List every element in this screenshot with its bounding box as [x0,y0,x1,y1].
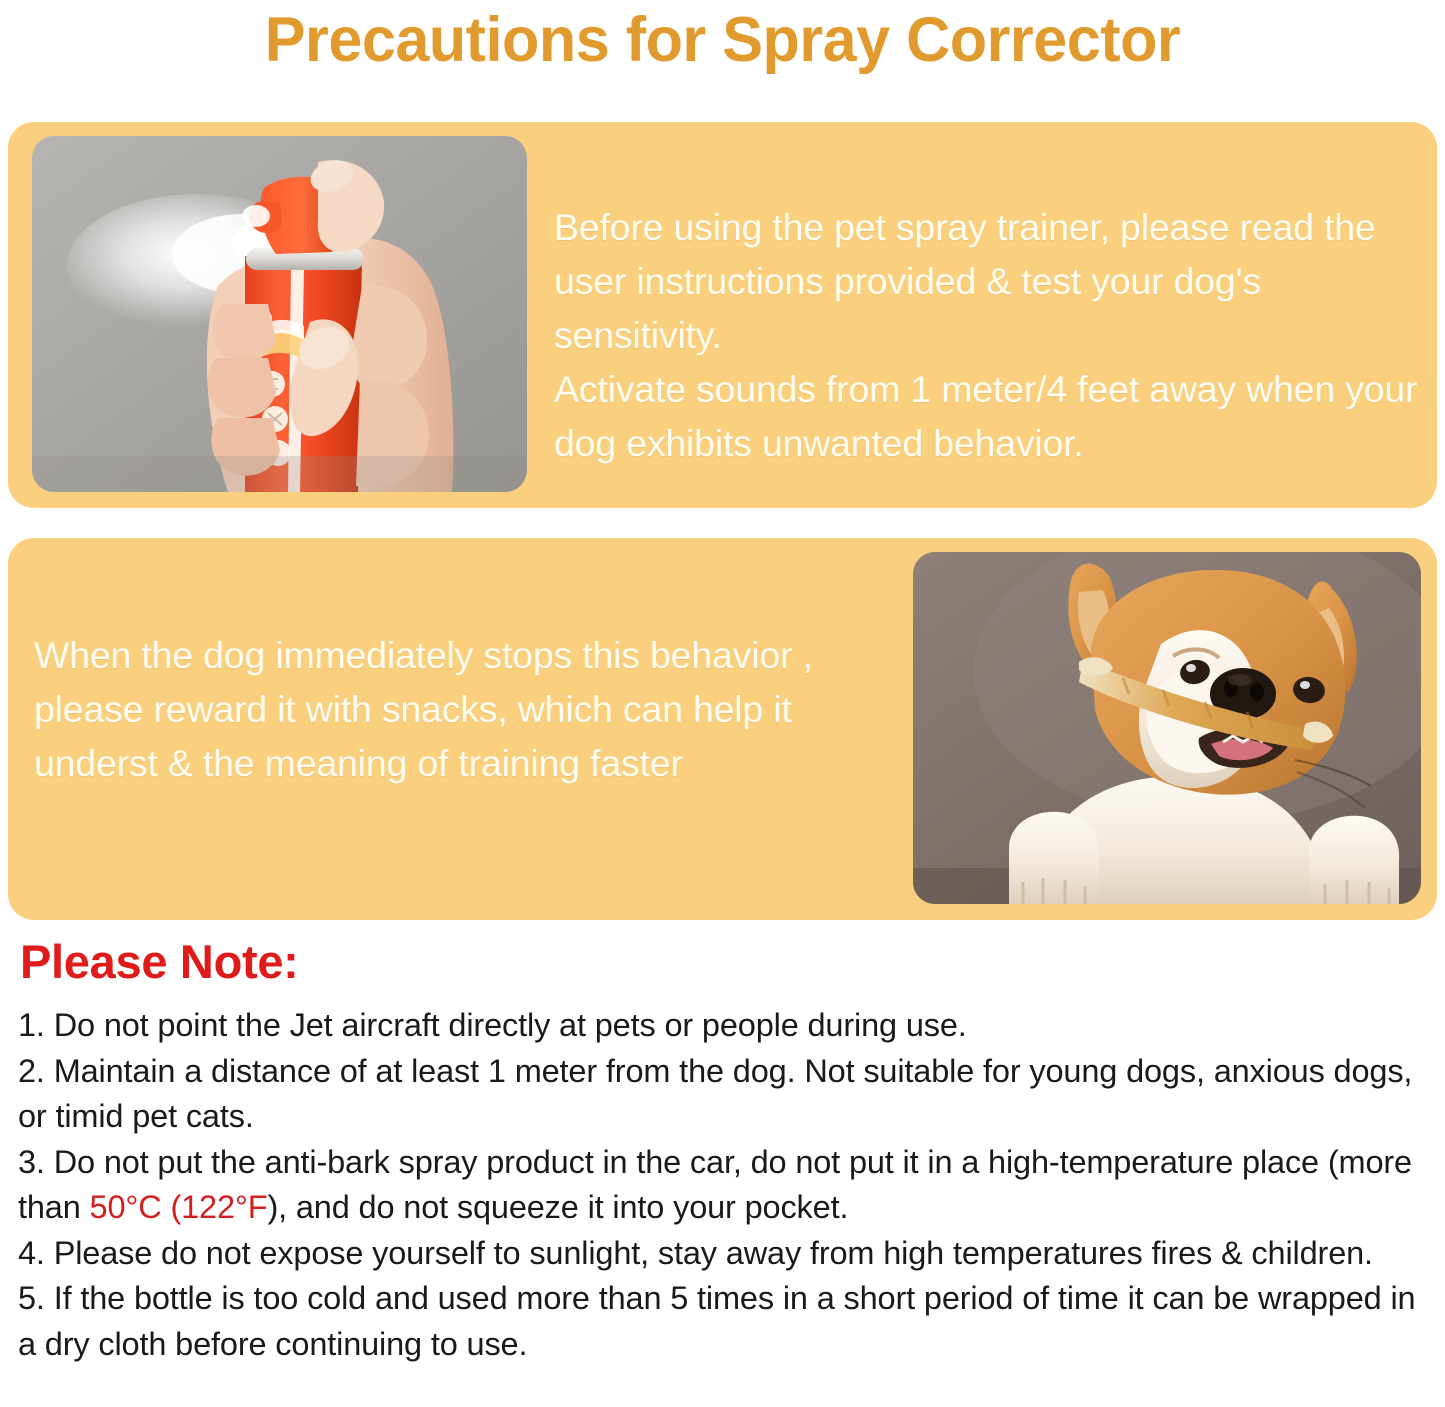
note-item-text: Please do not expose yourself to sunligh… [45,1235,1373,1271]
note-list-item: 1. Do not point the Jet aircraft directl… [18,1003,1428,1049]
note-item-text: Do not point the Jet aircraft directly a… [45,1007,967,1043]
note-list-item: 5. If the bottle is too cold and used mo… [18,1276,1428,1367]
note-item-text: If the bottle is too cold and used more … [18,1280,1415,1362]
hand-holding-orange-spray-can-photo [32,136,527,492]
note-item-number: 1. [18,1007,45,1043]
panel-1-instruction-text: Before using the pet spray trainer, plea… [554,200,1424,470]
page-title: Precautions for Spray Corrector [22,2,1424,78]
precaution-panel-reward: When the dog immediately stops this beha… [8,538,1437,920]
note-item-number: 2. [18,1053,45,1089]
please-note-heading: Please Note: [20,934,299,990]
corgi-dog-with-chew-stick-photo [913,552,1421,904]
panel-2-instruction-text: When the dog immediately stops this beha… [34,628,894,790]
note-item-highlight-text: 50°C (122°F [90,1189,268,1225]
precaution-panel-usage: Before using the pet spray trainer, plea… [8,122,1437,508]
note-item-text: ), and do not squeeze it into your pocke… [267,1189,848,1225]
note-list-item: 4. Please do not expose yourself to sunl… [18,1231,1428,1277]
please-note-list: 1. Do not point the Jet aircraft directl… [18,1003,1428,1367]
note-item-number: 5. [18,1280,45,1316]
note-item-number: 4. [18,1235,45,1271]
note-list-item: 3. Do not put the anti-bark spray produc… [18,1140,1428,1231]
note-item-number: 3. [18,1144,45,1180]
note-list-item: 2. Maintain a distance of at least 1 met… [18,1049,1428,1140]
note-item-text: Maintain a distance of at least 1 meter … [18,1053,1412,1135]
